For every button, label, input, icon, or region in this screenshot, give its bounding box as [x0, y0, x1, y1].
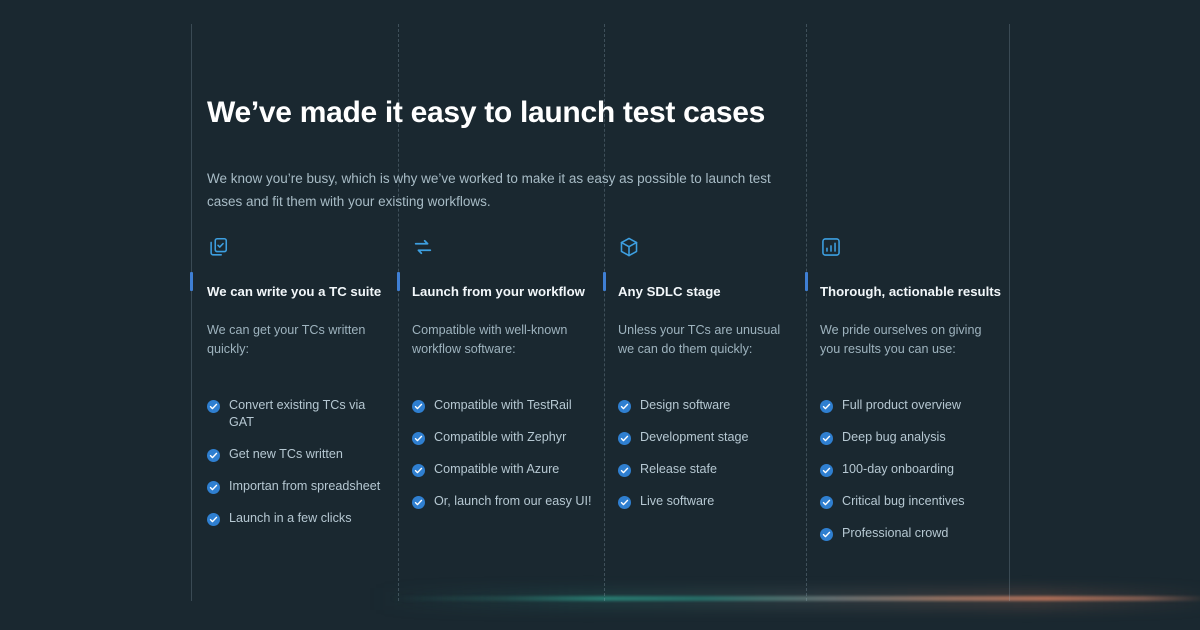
list-item: Launch in a few clicks	[207, 510, 393, 527]
check-circle-icon	[820, 432, 833, 445]
list-item-label: Importan from spreadsheet	[229, 478, 380, 495]
check-circle-icon	[820, 400, 833, 413]
page-subtitle: We know you’re busy, which is why we’ve …	[207, 167, 792, 213]
list-item-label: Launch in a few clicks	[229, 510, 352, 527]
check-circle-icon	[618, 464, 631, 477]
list-item: Full product overview	[820, 397, 1006, 414]
check-circle-icon	[207, 513, 220, 526]
list-item-label: Design software	[640, 397, 730, 414]
feature-description: Unless your TCs are unusual we can do th…	[618, 321, 794, 359]
cube-box-icon	[618, 236, 804, 258]
feature-list: Convert existing TCs via GAT Get new TCs…	[207, 397, 393, 527]
check-circle-icon	[618, 432, 631, 445]
list-item: Critical bug incentives	[820, 493, 1006, 510]
exchange-arrows-icon	[412, 236, 598, 258]
list-item-label: Live software	[640, 493, 714, 510]
list-item-label: Critical bug incentives	[842, 493, 965, 510]
feature-list: Full product overview Deep bug analysis …	[820, 397, 1006, 542]
check-circle-icon	[820, 528, 833, 541]
feature-description: We pride ourselves on giving you results…	[820, 321, 996, 359]
list-item-label: Compatible with Zephyr	[434, 429, 566, 446]
title-accent-bar-2	[397, 272, 400, 291]
list-item: Release stafe	[618, 461, 804, 478]
feature-title: Thorough, actionable results	[820, 284, 1006, 300]
list-item: Get new TCs written	[207, 446, 393, 463]
list-item-label: 100-day onboarding	[842, 461, 954, 478]
check-circle-icon	[618, 496, 631, 509]
list-item-label: Get new TCs written	[229, 446, 343, 463]
list-item-label: Convert existing TCs via GAT	[229, 397, 393, 431]
check-circle-icon	[412, 464, 425, 477]
feature-list: Compatible with TestRail Compatible with…	[412, 397, 598, 510]
feature-list: Design software Development stage Releas…	[618, 397, 804, 510]
feature-column-4: Thorough, actionable results We pride ou…	[820, 236, 1006, 557]
list-item-label: Or, launch from our easy UI!	[434, 493, 591, 510]
list-item: Compatible with TestRail	[412, 397, 598, 414]
title-accent-bar-4	[805, 272, 808, 291]
feature-title: We can write you a TC suite	[207, 284, 393, 300]
list-item-label: Development stage	[640, 429, 749, 446]
title-accent-bar-3	[603, 272, 606, 291]
list-item-label: Professional crowd	[842, 525, 948, 542]
feature-description: We can get your TCs written quickly:	[207, 321, 383, 359]
list-item-label: Release stafe	[640, 461, 717, 478]
list-item: Live software	[618, 493, 804, 510]
feature-column-2: Launch from your workflow Compatible wit…	[412, 236, 598, 525]
list-item: Compatible with Azure	[412, 461, 598, 478]
feature-column-1: We can write you a TC suite We can get y…	[207, 236, 393, 542]
check-circle-icon	[207, 481, 220, 494]
check-circle-icon	[207, 400, 220, 413]
slide-root: We’ve made it easy to launch test cases …	[0, 0, 1200, 630]
check-circle-icon	[618, 400, 631, 413]
panel-left-edge	[191, 24, 192, 601]
check-circle-icon	[412, 432, 425, 445]
feature-title: Launch from your workflow	[412, 284, 598, 300]
list-item-label: Deep bug analysis	[842, 429, 946, 446]
panel-right-edge	[1009, 24, 1010, 601]
list-item: Importan from spreadsheet	[207, 478, 393, 495]
list-item: Compatible with Zephyr	[412, 429, 598, 446]
check-circle-icon	[820, 464, 833, 477]
check-circle-icon	[820, 496, 833, 509]
title-accent-bar-1	[190, 272, 193, 291]
check-circle-icon	[207, 449, 220, 462]
feature-title: Any SDLC stage	[618, 284, 804, 300]
list-item-label: Compatible with TestRail	[434, 397, 572, 414]
check-circle-icon	[412, 400, 425, 413]
feature-column-3: Any SDLC stage Unless your TCs are unusu…	[618, 236, 804, 525]
list-item: Design software	[618, 397, 804, 414]
list-item: Convert existing TCs via GAT	[207, 397, 393, 431]
list-item: Or, launch from our easy UI!	[412, 493, 598, 510]
list-item: 100-day onboarding	[820, 461, 1006, 478]
copy-documents-check-icon	[207, 236, 393, 258]
check-circle-icon	[412, 496, 425, 509]
page-title: We’ve made it easy to launch test cases	[207, 96, 907, 130]
list-item-label: Compatible with Azure	[434, 461, 559, 478]
bar-chart-square-icon	[820, 236, 1006, 258]
feature-description: Compatible with well-known workflow soft…	[412, 321, 588, 359]
list-item: Professional crowd	[820, 525, 1006, 542]
list-item: Deep bug analysis	[820, 429, 1006, 446]
list-item: Development stage	[618, 429, 804, 446]
list-item-label: Full product overview	[842, 397, 961, 414]
